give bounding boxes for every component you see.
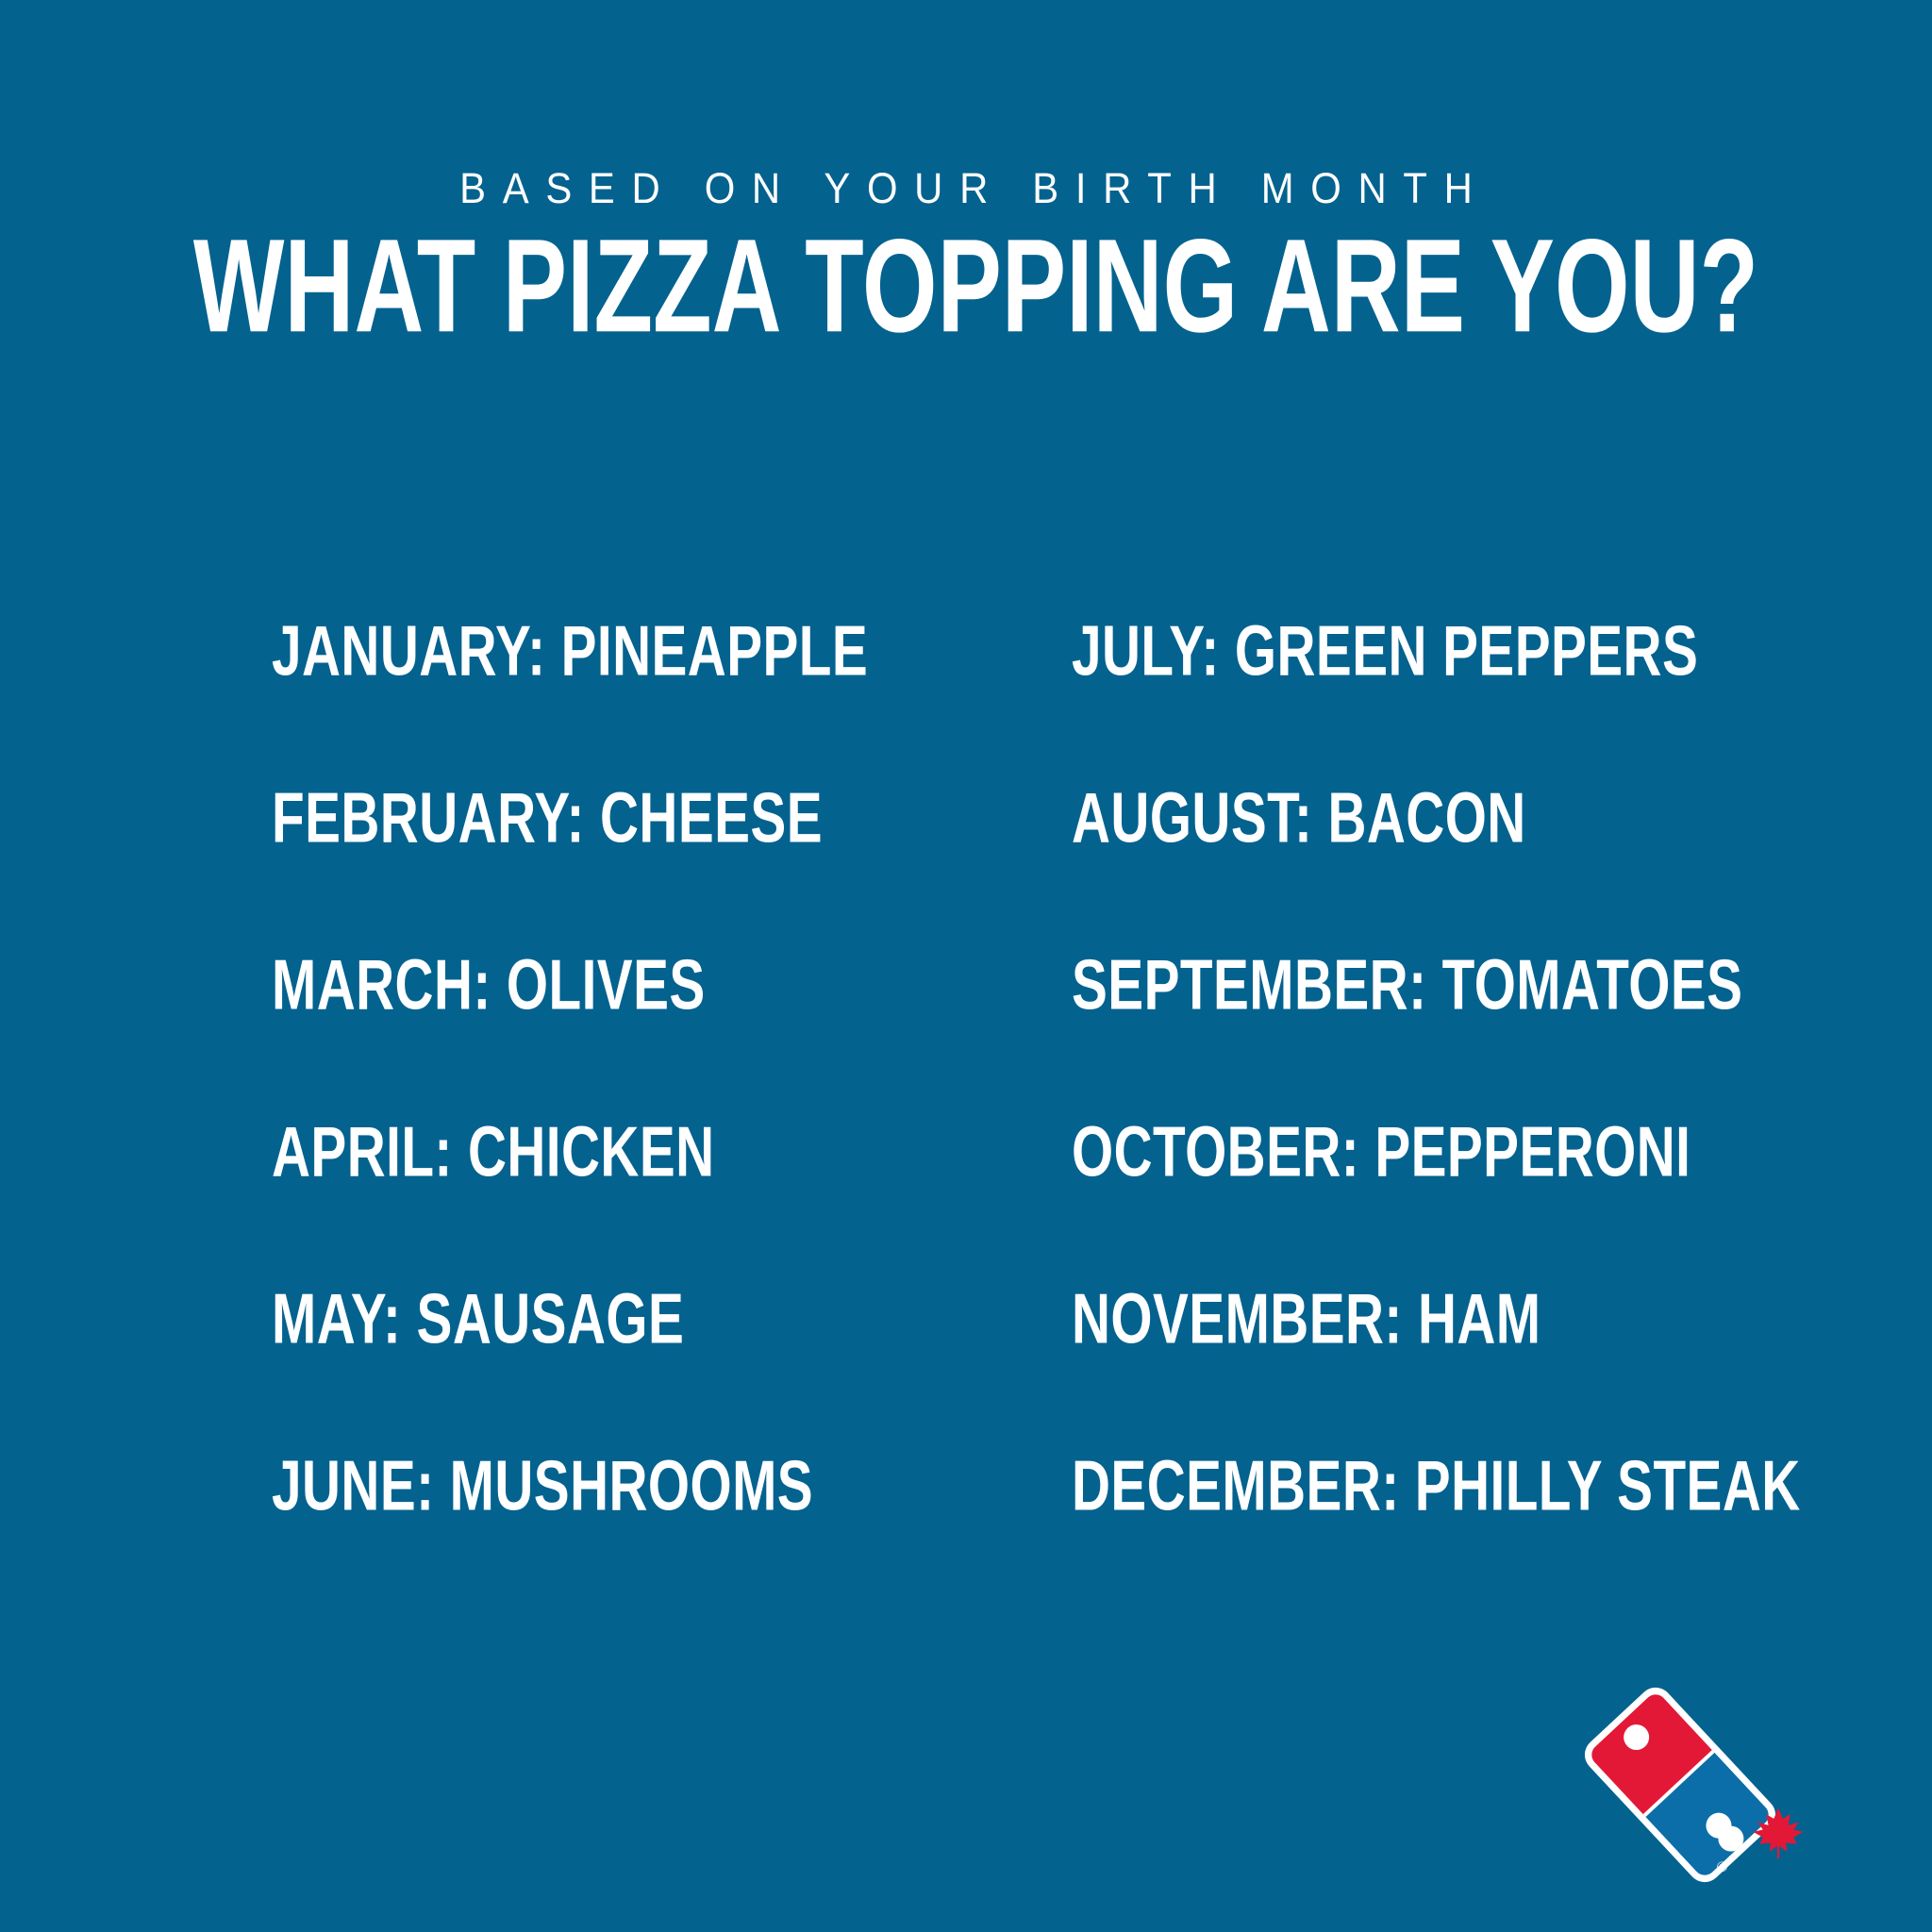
list-item-label: OCTOBER: PEPPERONI (1072, 1112, 1690, 1190)
maple-leaf-icon (1751, 1806, 1806, 1860)
list-item: JULY: GREEN PEPPERS (1072, 611, 1919, 778)
list-item: NOVEMBER: HAM (1072, 1279, 1919, 1446)
list-item-label: AUGUST: BACON (1072, 778, 1526, 856)
list-item-label: NOVEMBER: HAM (1072, 1279, 1541, 1357)
list-item-label: APRIL: CHICKEN (272, 1112, 715, 1190)
domino-tile-inner (1587, 1690, 1773, 1879)
list-item: MARCH: OLIVES (272, 945, 965, 1112)
registered-trademark-icon: ® (1717, 1860, 1727, 1874)
month-topping-lists: JANUARY: PINEAPPLE FEBRUARY: CHEESE MARC… (0, 611, 1932, 1517)
header-block: BASED ON YOUR BIRTH MONTH WHAT PIZZA TOP… (0, 162, 1932, 338)
list-item: DECEMBER: PHILLY STEAK (1072, 1446, 1919, 1613)
list-item: OCTOBER: PEPPERONI (1072, 1112, 1919, 1279)
list-item-label: SEPTEMBER: TOMATOES (1072, 945, 1742, 1023)
list-item-label: FEBRUARY: CHEESE (272, 778, 823, 856)
list-item: MAY: SAUSAGE (272, 1279, 965, 1446)
list-item: JUNE: MUSHROOMS (272, 1446, 965, 1613)
left-column: JANUARY: PINEAPPLE FEBRUARY: CHEESE MARC… (272, 611, 965, 1613)
list-item-label: MAY: SAUSAGE (272, 1279, 684, 1357)
list-item-label: MARCH: OLIVES (272, 945, 706, 1023)
domino-tile-icon: ® (1592, 1675, 1811, 1894)
page-title: WHAT PIZZA TOPPING ARE YOU? (193, 225, 1739, 349)
list-item-label: JANUARY: PINEAPPLE (272, 611, 868, 689)
dominos-logo: ® (1581, 1675, 1864, 1902)
list-item: AUGUST: BACON (1072, 778, 1919, 945)
domino-pip (1618, 1720, 1654, 1756)
list-item-label: JUNE: MUSHROOMS (272, 1446, 813, 1524)
eyebrow-text: BASED ON YOUR BIRTH MONTH (68, 162, 1865, 215)
list-item: SEPTEMBER: TOMATOES (1072, 945, 1919, 1112)
list-item-label: DECEMBER: PHILLY STEAK (1072, 1446, 1801, 1524)
list-item-label: JULY: GREEN PEPPERS (1072, 611, 1698, 689)
right-column: JULY: GREEN PEPPERS AUGUST: BACON SEPTEM… (1072, 611, 1919, 1613)
list-item: FEBRUARY: CHEESE (272, 778, 965, 945)
list-item: APRIL: CHICKEN (272, 1112, 965, 1279)
list-item: JANUARY: PINEAPPLE (272, 611, 965, 778)
poster-canvas: BASED ON YOUR BIRTH MONTH WHAT PIZZA TOP… (0, 0, 1932, 1932)
